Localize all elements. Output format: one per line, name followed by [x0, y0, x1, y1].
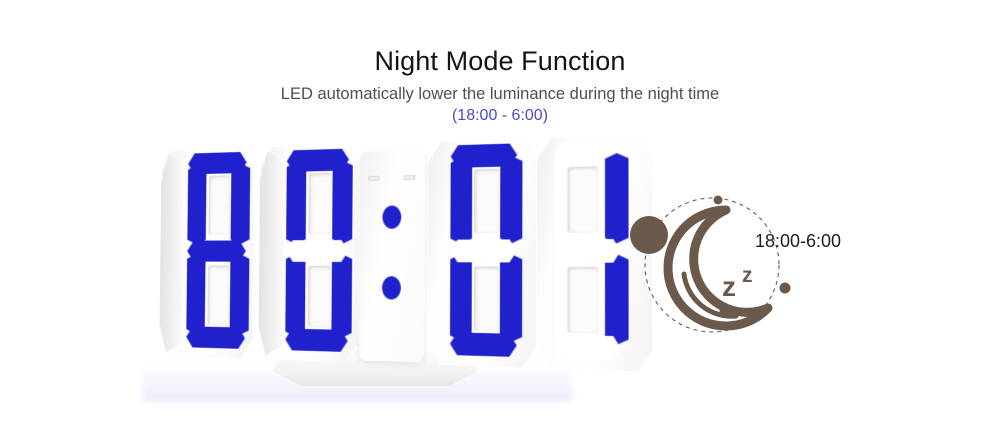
clock-colon-panel [359, 150, 425, 362]
digit-window-bottom [567, 267, 598, 334]
night-mode-badge: z z 18:00-6:00 [622, 178, 872, 348]
control-button-right[interactable] [403, 175, 415, 180]
clock-body [160, 137, 576, 369]
crescent-moon-outline [668, 210, 768, 326]
segment-f [286, 162, 306, 245]
control-button-left[interactable] [368, 176, 380, 181]
segment-c [230, 254, 250, 336]
colon-dot-lower [382, 276, 401, 299]
night-mode-time-label: 18:00-6:00 [755, 230, 841, 252]
orbit-small-dot-right [780, 283, 791, 294]
clock-digit-3 [427, 139, 536, 369]
segment-a [555, 140, 621, 165]
segment-f [554, 154, 577, 243]
segment-e [186, 254, 205, 334]
digit-side-face [159, 154, 184, 353]
segment-d [450, 332, 517, 357]
digit-window-bottom [308, 266, 331, 328]
orbit-large-dot [630, 216, 668, 254]
segment-f [450, 157, 472, 244]
digit-window-top [208, 175, 230, 235]
segment-b [332, 160, 353, 244]
segment-g [450, 239, 517, 262]
digit-window-bottom [474, 266, 499, 331]
segment-e [450, 254, 472, 341]
clock-digit-1 [160, 148, 254, 359]
segment-b [231, 163, 251, 244]
digit-window-top [474, 169, 499, 234]
digit-shell [427, 139, 536, 369]
segment-a [451, 143, 517, 168]
segment-c [500, 254, 522, 342]
colon-dot-upper [382, 205, 401, 228]
page-subtitle: LED automatically lower the luminance du… [0, 84, 1000, 105]
page-title: Night Mode Function [0, 44, 1000, 78]
digit-side-face [258, 151, 284, 356]
segment-g [187, 240, 246, 261]
header-block: Night Mode Function LED automatically lo… [0, 44, 1000, 126]
segment-b [500, 156, 522, 244]
segment-g [554, 239, 620, 263]
night-mode-promo-panel: Night Mode Function LED automatically lo… [0, 0, 1000, 436]
segment-c [331, 254, 352, 338]
digit-window-top [568, 166, 599, 232]
segment-e [554, 254, 577, 344]
sleep-z-large: z [722, 271, 736, 302]
segment-d [554, 335, 620, 360]
segment-g [286, 240, 348, 262]
night-time-range-text: (18:00 - 6:00) [0, 106, 1000, 126]
clock-digit-2 [259, 144, 358, 362]
segment-e [285, 254, 305, 337]
orbit-small-dot-top [714, 196, 723, 205]
product-image-clock [120, 138, 590, 403]
moon-sleep-icon: z z [622, 178, 872, 348]
sleep-z-small: z [742, 264, 753, 287]
digit-window-bottom [207, 265, 229, 325]
digit-window-top [309, 173, 332, 234]
segment-f [187, 164, 206, 244]
